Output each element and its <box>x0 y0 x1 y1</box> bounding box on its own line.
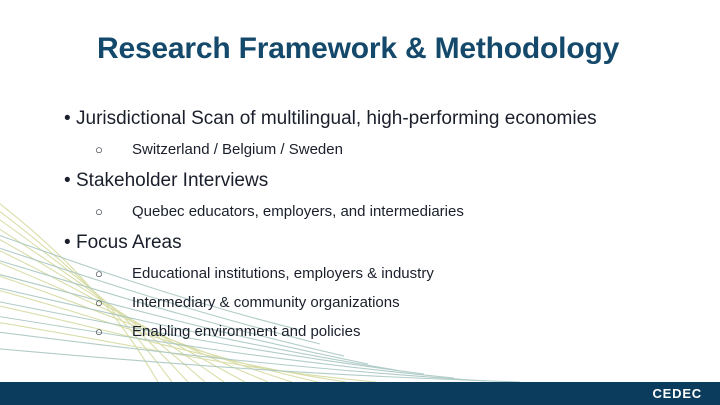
sub-bullet-text: Educational institutions, employers & in… <box>132 260 434 288</box>
bullet-text: Focus Areas <box>76 228 182 258</box>
bullet-text: Jurisdictional Scan of multilingual, hig… <box>76 104 597 134</box>
bullet-group: • Stakeholder Interviews ○ Quebec educat… <box>0 166 720 226</box>
sub-bullet-item: ○ Quebec educators, employers, and inter… <box>0 198 720 226</box>
bullet-item: • Jurisdictional Scan of multilingual, h… <box>0 104 720 134</box>
sub-bullet-item: ○ Intermediary & community organizations <box>0 289 720 317</box>
slide-title: Research Framework & Methodology <box>97 32 657 67</box>
bullet-group: • Focus Areas ○ Educational institutions… <box>0 228 720 346</box>
cedec-logo: CEDEC <box>652 386 702 401</box>
sub-bullet-item: ○ Enabling environment and policies <box>0 318 720 346</box>
bullet-marker-icon: • <box>64 171 76 190</box>
footer-bar: CEDEC <box>0 382 720 405</box>
bullet-item: • Stakeholder Interviews <box>0 166 720 196</box>
bullet-marker-icon: • <box>64 109 76 128</box>
bullet-group: • Jurisdictional Scan of multilingual, h… <box>0 104 720 164</box>
sub-bullet-text: Switzerland / Belgium / Sweden <box>132 136 343 164</box>
sub-bullet-item: ○ Switzerland / Belgium / Sweden <box>0 136 720 164</box>
slide-body: • Jurisdictional Scan of multilingual, h… <box>0 104 720 348</box>
bullet-text: Stakeholder Interviews <box>76 166 268 196</box>
sub-bullet-item: ○ Educational institutions, employers & … <box>0 260 720 288</box>
sub-bullet-marker-icon: ○ <box>95 267 132 280</box>
sub-bullet-marker-icon: ○ <box>95 325 132 338</box>
sub-bullet-marker-icon: ○ <box>95 205 132 218</box>
slide: Research Framework & Methodology • Juris… <box>0 0 720 405</box>
sub-bullet-marker-icon: ○ <box>95 296 132 309</box>
sub-bullet-text: Enabling environment and policies <box>132 318 360 346</box>
sub-bullet-marker-icon: ○ <box>95 143 132 156</box>
sub-bullet-text: Intermediary & community organizations <box>132 289 400 317</box>
sub-bullet-text: Quebec educators, employers, and interme… <box>132 198 464 226</box>
bullet-marker-icon: • <box>64 233 76 252</box>
bullet-item: • Focus Areas <box>0 228 720 258</box>
